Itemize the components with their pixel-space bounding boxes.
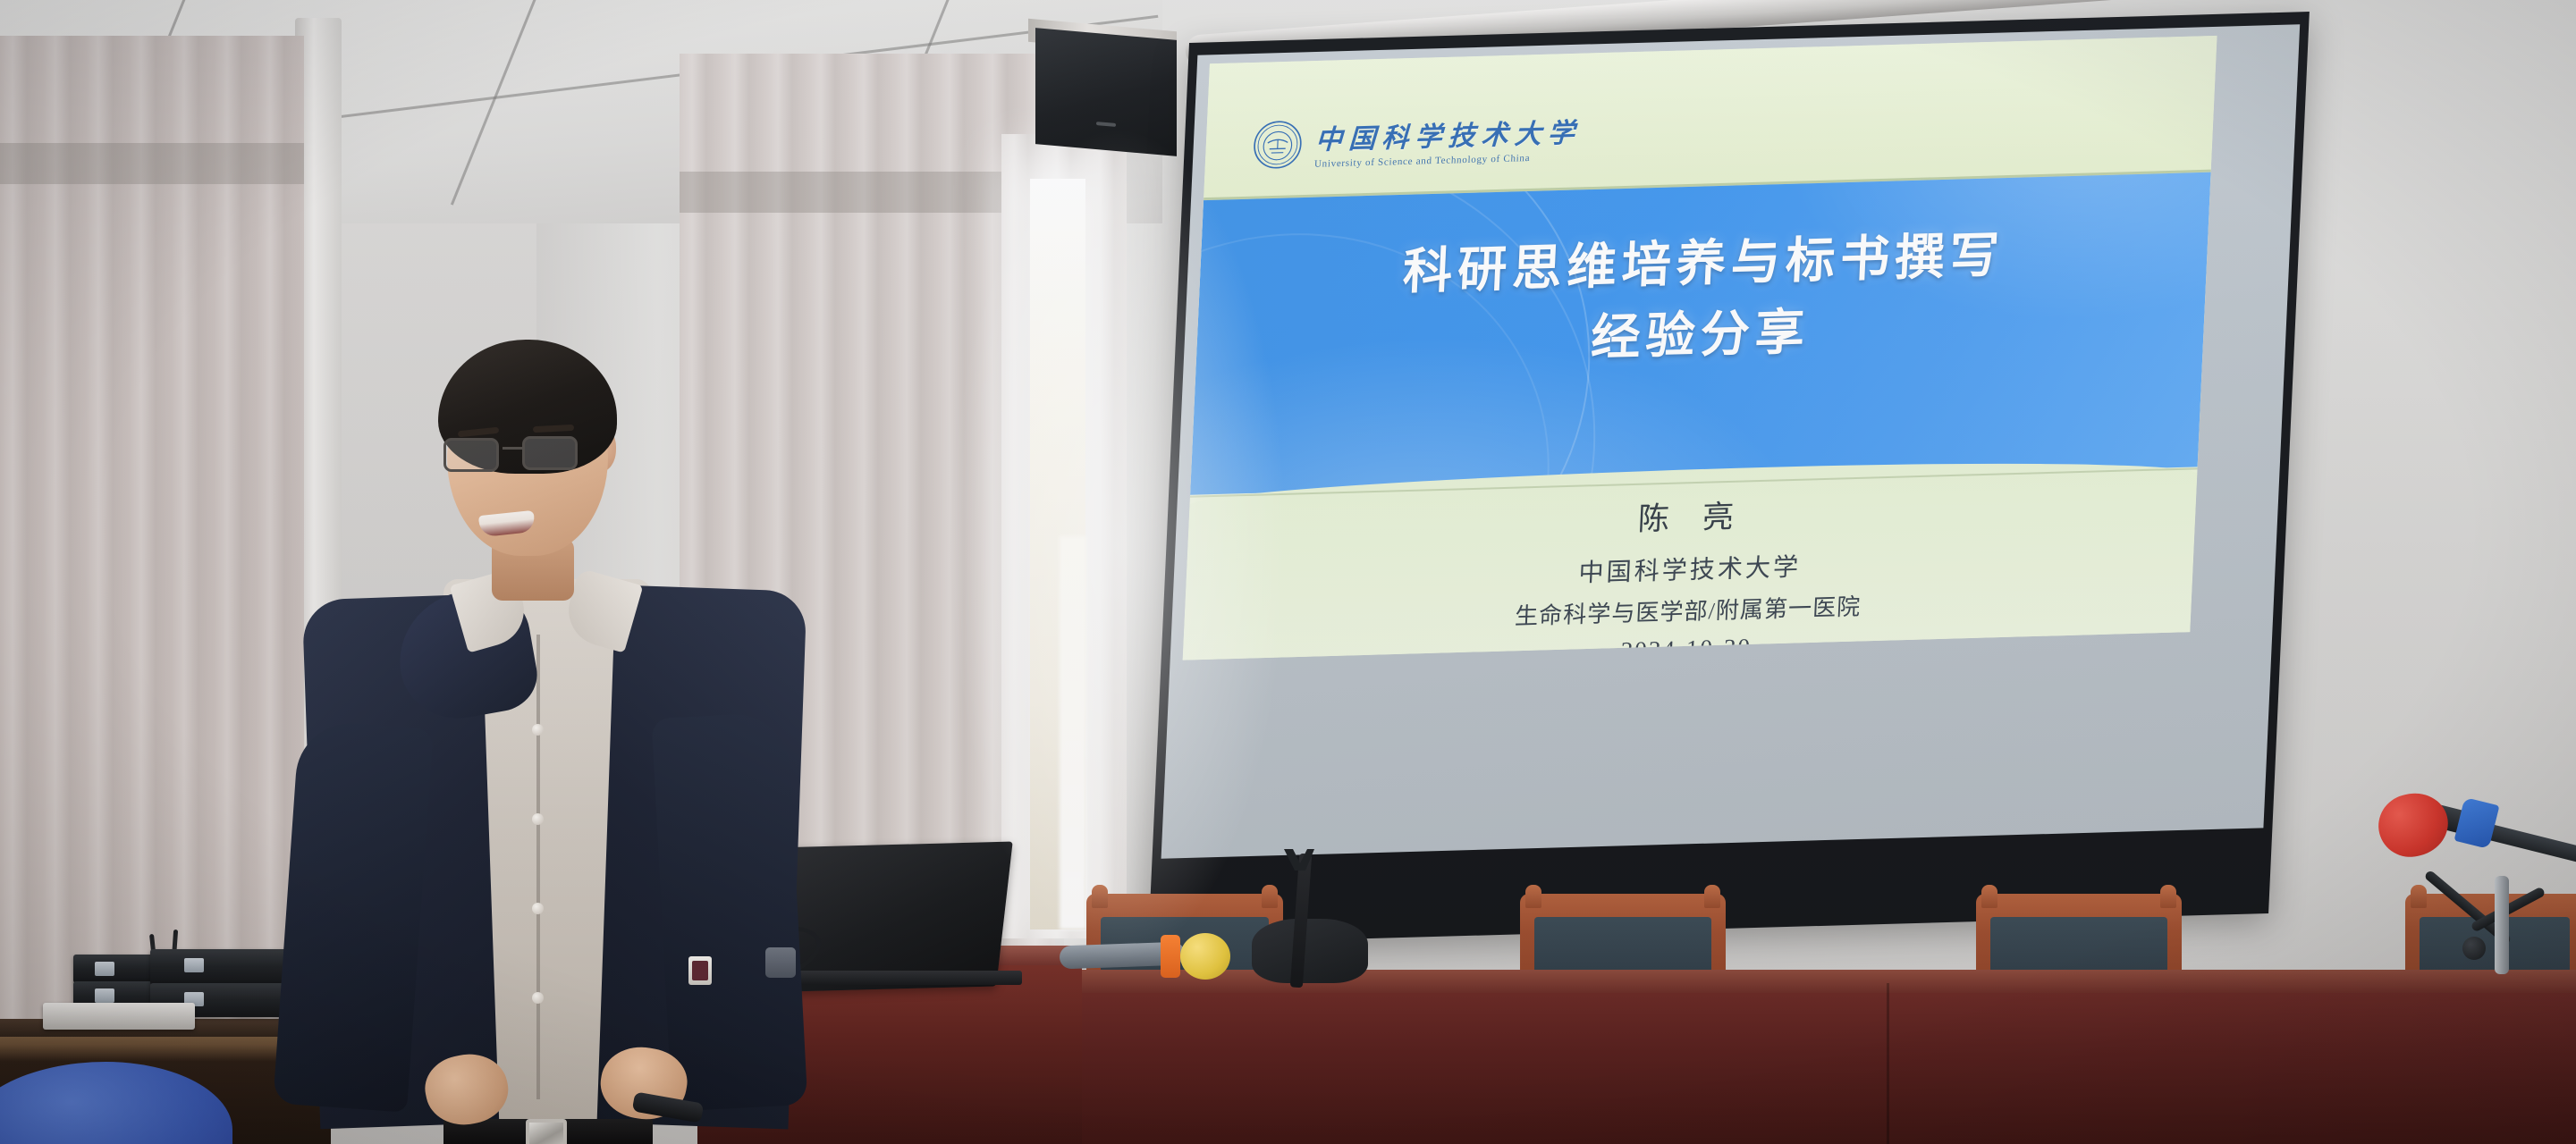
jacket-sleeve-left [273, 719, 434, 1112]
microphone-clip [1161, 935, 1180, 978]
presenter-glasses [443, 434, 610, 474]
university-name-cn: 中国科学技术大学 [1314, 111, 1582, 157]
shirt-button [532, 903, 544, 914]
mic-stand-post [2495, 876, 2509, 974]
screen-surface: · 中国科学技术大学 University of Science and Tec… [1161, 24, 2301, 859]
curtain-left [0, 36, 304, 1046]
yellow-microphone-windscreen [1180, 933, 1230, 980]
presenter [268, 340, 823, 1144]
belt-buckle [526, 1119, 567, 1144]
jacket-sleeve-right [652, 711, 808, 1111]
cable-bundle [1252, 919, 1368, 983]
desk-panel-seam [1887, 983, 1889, 1144]
speaker-logo [1096, 122, 1116, 127]
presentation-slide: · 中国科学技术大学 University of Science and Tec… [1183, 36, 2217, 660]
shirt-button [532, 724, 544, 736]
fila-logo-patch [688, 956, 712, 985]
shirt-button [532, 813, 544, 825]
wall-speaker [1035, 28, 1177, 156]
sleeve-patch [765, 947, 796, 978]
slide-title: 科研思维培养与标书撰写 经验分享 [1195, 214, 2209, 385]
university-branding: · 中国科学技术大学 University of Science and Tec… [1252, 111, 1582, 172]
amplifier-unit [43, 1003, 195, 1030]
shirt-button [532, 992, 544, 1004]
lecture-hall-scene: · 中国科学技术大学 University of Science and Tec… [0, 0, 2576, 1144]
svg-text:·: · [1266, 129, 1267, 132]
ustc-seal-logo: · [1252, 119, 1305, 171]
projection-screen: · 中国科学技术大学 University of Science and Tec… [1148, 12, 2310, 945]
presenter-info-block: 陈 亮 中国科学技术大学 生命科学与医学部/附属第一医院 2024-10-30 [1183, 478, 2197, 660]
mic-stand-fork [1279, 847, 1320, 888]
mic-stand-adjust-knob[interactable] [2462, 937, 2486, 960]
window-light-gap-inner [1060, 536, 1086, 929]
university-name-block: 中国科学技术大学 University of Science and Techn… [1314, 111, 1582, 170]
shirt-placket [536, 635, 540, 1099]
